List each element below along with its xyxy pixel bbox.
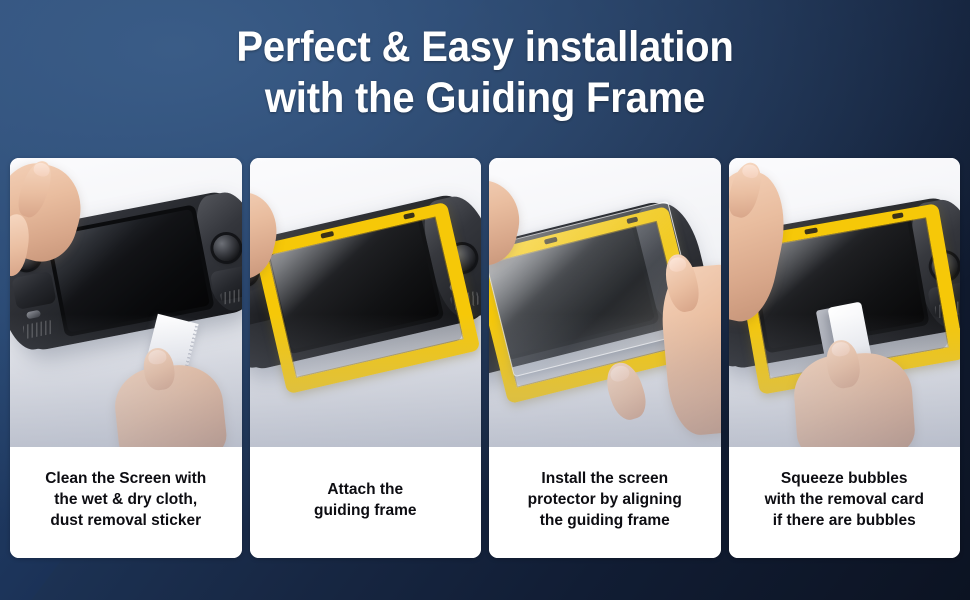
step-card-3: Install the screen protector by aligning… xyxy=(489,158,721,558)
step-caption-text: Clean the Screen with the wet & dry clot… xyxy=(45,468,206,531)
step-caption-3: Install the screen protector by aligning… xyxy=(489,447,721,558)
step-caption-text: Squeeze bubbles with the removal card if… xyxy=(765,468,924,531)
step-image-2 xyxy=(250,158,482,447)
thumb xyxy=(601,358,651,424)
step-card-1: Clean the Screen with the wet & dry clot… xyxy=(10,158,242,558)
right-hand xyxy=(791,350,916,447)
step-caption-4: Squeeze bubbles with the removal card if… xyxy=(729,447,961,558)
step-caption-2: Attach the guiding frame xyxy=(250,447,482,558)
step-card-4: Squeeze bubbles with the removal card if… xyxy=(729,158,961,558)
speaker-vent xyxy=(22,320,54,339)
removal-card xyxy=(827,302,876,389)
right-hand xyxy=(111,361,228,447)
index-finger xyxy=(141,346,177,392)
title-line-2: with the Guiding Frame xyxy=(34,73,936,124)
title-line-1: Perfect & Easy installation xyxy=(34,22,936,73)
steps-row: Clean the Screen with the wet & dry clot… xyxy=(10,158,960,558)
cleaning-cloth xyxy=(143,314,198,382)
step-image-1 xyxy=(10,158,242,447)
step-caption-1: Clean the Screen with the wet & dry clot… xyxy=(10,447,242,558)
index-finger xyxy=(823,338,862,390)
step-caption-text: Install the screen protector by aligning… xyxy=(528,468,682,531)
step-card-2: Attach the guiding frame xyxy=(250,158,482,558)
removal-card-shadow xyxy=(815,307,851,388)
page-title: Perfect & Easy installation with the Gui… xyxy=(0,22,970,124)
step-image-3 xyxy=(489,158,721,447)
installation-steps-banner: Perfect & Easy installation with the Gui… xyxy=(0,0,970,600)
step-image-4 xyxy=(729,158,961,447)
step-caption-text: Attach the guiding frame xyxy=(314,479,416,521)
